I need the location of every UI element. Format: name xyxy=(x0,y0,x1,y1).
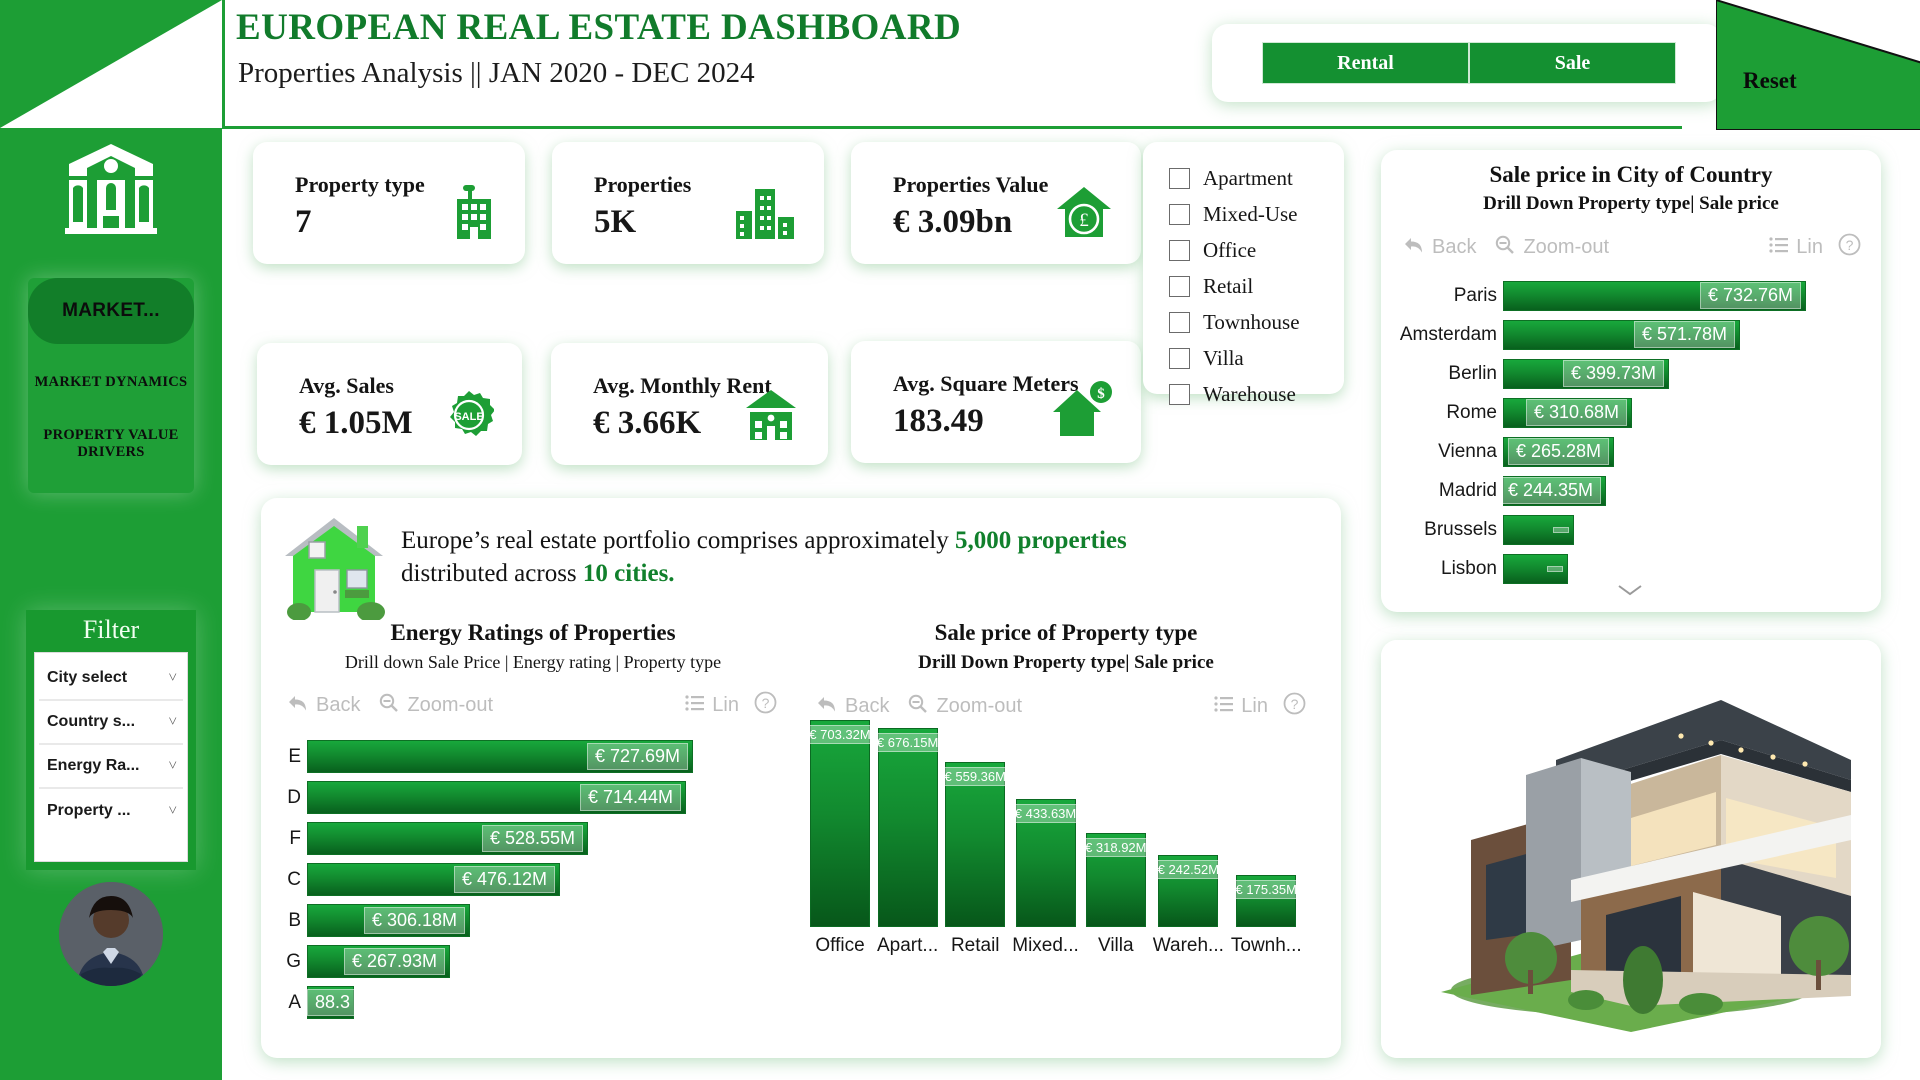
sidebar-item-market-dynamics[interactable]: MARKET DYNAMICS xyxy=(28,356,194,409)
bar-category: Retail xyxy=(951,935,1000,957)
chart-subtitle: Drill down Sale Price | Energy rating | … xyxy=(273,652,793,673)
avatar[interactable] xyxy=(59,882,163,986)
bar-value-label: € 399.73M xyxy=(1563,360,1664,387)
bar-row[interactable]: Brussels xyxy=(1381,510,1881,549)
sidebar: MARKET... MARKET DYNAMICS PROPERTY VALUE… xyxy=(0,0,222,1080)
sidebar-item-label: MARKET DYNAMICS xyxy=(35,374,188,390)
bar-column[interactable]: € 175.35M Townh... xyxy=(1231,875,1302,957)
chevron-down-icon: ˅ xyxy=(167,670,177,687)
dashboard-root: MARKET... MARKET DYNAMICS PROPERTY VALUE… xyxy=(0,0,1920,1080)
checkbox-icon[interactable] xyxy=(1169,204,1190,225)
chart-toolbar-city: Back Zoom-out Lin ? xyxy=(1403,233,1861,262)
kpi-card-avg-square-meters[interactable]: Avg. Square Meters 183.49 $ xyxy=(851,341,1141,463)
bar-row[interactable]: A 88.3 xyxy=(281,982,793,1023)
bar-value-label: € 732.76M xyxy=(1700,282,1801,309)
filter-item-property-type[interactable]: Property ... ˅ xyxy=(39,789,183,833)
analysis-panel: Europe’s real estate portfolio comprises… xyxy=(261,498,1341,1058)
bar-category: Townh... xyxy=(1231,935,1302,957)
property-photo-panel xyxy=(1381,640,1881,1058)
bar: € 175.35M xyxy=(1236,875,1296,927)
bar: € 703.32M xyxy=(810,720,870,927)
bar-row[interactable]: Berlin € 399.73M xyxy=(1381,354,1881,393)
bar-category: Mixed... xyxy=(1012,935,1079,957)
hero-line2-em: 10 cities. xyxy=(583,560,675,587)
page-subtitle: Properties Analysis || JAN 2020 - DEC 20… xyxy=(238,57,755,90)
energy-ratings-chart-block: Energy Ratings of Properties Drill down … xyxy=(273,620,793,1023)
checkbox-row-office[interactable]: Office xyxy=(1169,232,1344,268)
chart-subtitle: Drill Down Property type| Sale price xyxy=(1381,193,1881,215)
bar-value-label xyxy=(1547,566,1563,572)
svg-text:?: ? xyxy=(1846,237,1854,253)
zoom-out-label: Zoom-out xyxy=(1523,236,1609,259)
back-arrow-icon xyxy=(1403,236,1425,260)
kpi-card-avg-monthly-rent[interactable]: Avg. Monthly Rent € 3.66K xyxy=(551,343,828,465)
bar-value-label: € 265.28M xyxy=(1508,438,1609,465)
checkbox-label: Villa xyxy=(1203,346,1244,371)
bar: € 476.12M xyxy=(307,863,560,896)
filter-item-country-select[interactable]: Country s... ˅ xyxy=(39,701,183,745)
kpi-title: Avg. Sales xyxy=(299,373,394,399)
back-button[interactable]: Back xyxy=(287,694,360,718)
back-label: Back xyxy=(1432,236,1476,259)
chart-scroll-down-icon[interactable] xyxy=(1617,583,1643,602)
bar xyxy=(1503,554,1568,584)
bar-value-label: € 306.18M xyxy=(364,907,465,934)
checkbox-label: Townhouse xyxy=(1203,310,1300,335)
back-arrow-icon xyxy=(816,695,838,719)
kpi-value: 7 xyxy=(295,204,312,241)
help-circle-icon[interactable]: ? xyxy=(754,691,777,720)
sidebar-corner-wedge xyxy=(0,0,222,128)
sidebar-item-property-value-drivers[interactable]: PROPERTY VALUE DRIVERS xyxy=(28,409,194,479)
bar: € 528.55M xyxy=(307,822,588,855)
building-key-icon xyxy=(451,183,497,244)
property-type-bar-chart: € 703.32M Office € 676.15M Apart... € 55… xyxy=(806,735,1326,957)
filter-title: Filter xyxy=(26,610,196,652)
property-type-chart-block: Sale price of Property type Drill Down P… xyxy=(806,620,1326,957)
header: EUROPEAN REAL ESTATE DASHBOARD Propertie… xyxy=(222,0,1920,128)
kpi-card-avg-sales[interactable]: Avg. Sales € 1.05M SALE xyxy=(257,343,522,465)
filter-list: City select ˅ Country s... ˅ Energy Ra..… xyxy=(34,652,188,862)
sidebar-item-label: MARKET... xyxy=(62,300,160,321)
svg-text:SALE: SALE xyxy=(454,411,483,423)
kpi-value: 183.49 xyxy=(893,403,984,440)
hero-statement: Europe’s real estate portfolio comprises… xyxy=(401,524,1301,590)
filter-item-city-select[interactable]: City select ˅ xyxy=(39,657,183,701)
chevron-down-icon: ˅ xyxy=(167,714,177,731)
bar-value-label: € 727.69M xyxy=(587,743,688,770)
bar-value-label: € 476.12M xyxy=(454,866,555,893)
bar-category: Vienna xyxy=(1381,441,1503,463)
bar-category: B xyxy=(281,910,307,932)
bar-value-label: € 310.68M xyxy=(1526,399,1627,426)
bar-row[interactable]: F € 528.55M xyxy=(281,818,793,859)
bar: 88.3 xyxy=(307,986,354,1019)
bar-column[interactable]: € 433.63M Mixed... xyxy=(1012,799,1079,957)
rental-button[interactable]: Rental xyxy=(1262,42,1469,84)
bar-category: E xyxy=(281,746,307,768)
checkbox-icon[interactable] xyxy=(1169,240,1190,261)
kpi-card-properties-value[interactable]: Properties Value € 3.09bn £ xyxy=(851,142,1141,264)
bar-column[interactable]: € 559.36M Retail xyxy=(945,762,1005,957)
bar-row[interactable]: Paris € 732.76M xyxy=(1381,276,1881,315)
checkbox-label: Retail xyxy=(1203,274,1253,299)
bar-row[interactable]: C € 476.12M xyxy=(281,859,793,900)
bar-category: Rome xyxy=(1381,402,1503,424)
checkbox-icon[interactable] xyxy=(1169,384,1190,405)
bar-row[interactable]: Madrid € 244.35M xyxy=(1381,471,1881,510)
list-lines-icon xyxy=(685,694,705,718)
bar-category: G xyxy=(281,951,307,973)
checkbox-row-apartment[interactable]: Apartment xyxy=(1169,160,1344,196)
zoom-out-button[interactable]: Zoom-out xyxy=(907,694,1022,720)
reset-button-label[interactable]: Reset xyxy=(1743,68,1797,94)
modern-house-photo xyxy=(1381,640,1881,1058)
city-bar-chart: Paris € 732.76M Amsterdam € 571.78M Berl… xyxy=(1381,276,1881,588)
bar-category: Brussels xyxy=(1381,519,1503,541)
bar-value-label: € 714.44M xyxy=(580,784,681,811)
house-rent-icon xyxy=(742,388,800,445)
bar-category: Villa xyxy=(1098,935,1134,957)
bar-value-label: € 559.36M xyxy=(940,767,1011,786)
zoom-out-label: Zoom-out xyxy=(936,695,1022,718)
header-left-rule xyxy=(222,0,225,128)
bar: € 318.92M xyxy=(1086,833,1146,927)
zoom-out-icon xyxy=(907,694,929,720)
kpi-value: 5K xyxy=(594,204,636,241)
bar-row[interactable]: G € 267.93M xyxy=(281,941,793,982)
help-circle-icon[interactable]: ? xyxy=(1283,692,1306,721)
bar-row[interactable]: Vienna € 265.28M xyxy=(1381,432,1881,471)
svg-text:?: ? xyxy=(762,695,770,711)
sale-button[interactable]: Sale xyxy=(1469,42,1676,84)
bar-column[interactable]: € 676.15M Apart... xyxy=(877,728,938,957)
checkbox-icon[interactable] xyxy=(1169,348,1190,369)
bar: € 433.63M xyxy=(1016,799,1076,927)
zoom-out-label: Zoom-out xyxy=(407,694,493,717)
bar-category: A xyxy=(281,992,307,1014)
bar-category: D xyxy=(281,787,307,809)
bar-value-label: € 571.78M xyxy=(1634,321,1735,348)
back-label: Back xyxy=(845,695,889,718)
back-arrow-icon xyxy=(287,694,309,718)
lin-button[interactable]: Lin xyxy=(1214,695,1268,719)
kpi-value: € 3.66K xyxy=(593,405,701,442)
energy-bar-chart: E € 727.69M D € 714.44M F € 528.55M C € … xyxy=(281,736,793,1023)
bar-category: Apart... xyxy=(877,935,938,957)
bar-value-label: € 267.93M xyxy=(344,948,445,975)
page-title: EUROPEAN REAL ESTATE DASHBOARD xyxy=(236,6,961,49)
chart-title: Energy Ratings of Properties xyxy=(273,620,793,646)
bar-value-label: € 242.52M xyxy=(1153,860,1224,879)
filter-panel: Filter City select ˅ Country s... ˅ Ener… xyxy=(26,610,196,870)
bar: € 732.76M xyxy=(1503,281,1806,311)
sidebar-nav: MARKET... MARKET DYNAMICS PROPERTY VALUE… xyxy=(28,278,194,493)
bar-column[interactable]: € 242.52M Wareh... xyxy=(1153,855,1224,957)
bar-value-label: € 676.15M xyxy=(872,733,943,752)
bar-category: Lisbon xyxy=(1381,558,1503,580)
bar-category: Amsterdam xyxy=(1381,324,1503,346)
hero-line1-em: 5,000 properties xyxy=(955,527,1127,554)
reset-wedge[interactable] xyxy=(1716,0,1920,130)
lin-label: Lin xyxy=(1241,695,1268,718)
bar: € 244.35M xyxy=(1503,476,1606,506)
chevron-down-icon: ˅ xyxy=(167,803,177,820)
house-pound-icon: £ xyxy=(1055,185,1113,244)
checkbox-icon[interactable] xyxy=(1169,168,1190,189)
bar-category: Madrid xyxy=(1381,480,1503,502)
bar-row[interactable]: Amsterdam € 571.78M xyxy=(1381,315,1881,354)
bar-category: Wareh... xyxy=(1153,935,1224,957)
bar-row[interactable]: E € 727.69M xyxy=(281,736,793,777)
zoom-out-icon xyxy=(378,693,400,719)
bar-category: F xyxy=(281,828,307,850)
checkbox-icon[interactable] xyxy=(1169,276,1190,297)
bar-value-label: 88.3 xyxy=(307,989,354,1016)
chart-toolbar-property-type: Back Zoom-out Lin ? xyxy=(816,692,1306,721)
chevron-down-icon: ˅ xyxy=(167,758,177,775)
lin-button[interactable]: Lin xyxy=(685,694,739,718)
bar-column[interactable]: € 703.32M Office xyxy=(810,720,870,957)
checkbox-label: Mixed-Use xyxy=(1203,202,1297,227)
lin-button[interactable]: Lin xyxy=(1769,236,1823,260)
checkbox-label: Warehouse xyxy=(1203,382,1296,407)
bar-value-label: € 703.32M xyxy=(804,725,875,744)
kpi-title: Properties Value xyxy=(893,172,1048,198)
city-sale-price-panel: Sale price in City of Country Drill Down… xyxy=(1381,150,1881,612)
checkbox-label: Office xyxy=(1203,238,1256,263)
bar-value-label xyxy=(1553,527,1569,533)
bar-category: Berlin xyxy=(1381,363,1503,385)
svg-text:?: ? xyxy=(1291,696,1299,712)
bar-category: C xyxy=(281,869,307,891)
sidebar-item-market[interactable]: MARKET... xyxy=(28,278,194,344)
help-circle-icon[interactable]: ? xyxy=(1838,233,1861,262)
chart-title: Sale price of Property type xyxy=(806,620,1326,646)
zoom-out-button[interactable]: Zoom-out xyxy=(378,693,493,719)
header-bottom-rule xyxy=(222,126,1682,129)
bar xyxy=(1503,515,1574,545)
bar-value-label: € 528.55M xyxy=(482,825,583,852)
bar-value-label: € 175.35M xyxy=(1231,880,1302,899)
checkbox-row-mixed-use[interactable]: Mixed-Use xyxy=(1169,196,1344,232)
lin-label: Lin xyxy=(1796,236,1823,259)
bar-value-label: € 244.35M xyxy=(1500,477,1601,504)
zoom-out-button[interactable]: Zoom-out xyxy=(1494,235,1609,261)
bar-column[interactable]: € 318.92M Villa xyxy=(1086,833,1146,957)
checkbox-row-villa[interactable]: Villa xyxy=(1169,340,1344,376)
kpi-title: Properties xyxy=(594,172,691,198)
chart-title: Sale price in City of Country xyxy=(1381,162,1881,188)
bar: € 714.44M xyxy=(307,781,686,814)
svg-text:£: £ xyxy=(1079,210,1089,231)
bar: € 267.93M xyxy=(307,945,450,978)
bar: € 265.28M xyxy=(1503,437,1614,467)
list-lines-icon xyxy=(1769,236,1789,260)
filter-item-label: City select xyxy=(47,669,127,687)
bar: € 399.73M xyxy=(1503,359,1669,389)
kpi-value: € 1.05M xyxy=(299,405,413,442)
bar: € 310.68M xyxy=(1503,398,1632,428)
green-house-icon xyxy=(279,512,389,625)
checkbox-icon[interactable] xyxy=(1169,312,1190,333)
back-button[interactable]: Back xyxy=(816,695,889,719)
checkbox-label: Apartment xyxy=(1203,166,1293,191)
hero-line2-a: distributed across xyxy=(401,560,583,587)
bar: € 727.69M xyxy=(307,740,693,773)
chart-toolbar-energy: Back Zoom-out Lin ? xyxy=(287,691,777,720)
bar: € 571.78M xyxy=(1503,320,1740,350)
hero-line1-a: Europe’s real estate portfolio comprises… xyxy=(401,527,955,554)
filter-item-label: Country s... xyxy=(47,713,135,731)
kpi-value: € 3.09bn xyxy=(893,204,1012,241)
mode-toggle-group: Rental Sale xyxy=(1212,24,1722,102)
city-buildings-icon xyxy=(734,187,796,244)
kpi-card-property-type[interactable]: Property type 7 xyxy=(253,142,525,264)
chart-subtitle: Drill Down Property type| Sale price xyxy=(806,652,1326,674)
lin-label: Lin xyxy=(712,694,739,717)
filter-item-label: Property ... xyxy=(47,802,131,820)
checkbox-row-warehouse[interactable]: Warehouse xyxy=(1169,376,1344,412)
svg-text:$: $ xyxy=(1097,386,1105,402)
sidebar-item-label: PROPERTY VALUE DRIVERS xyxy=(43,427,178,460)
property-type-checkbox-list: Apartment Mixed-Use Office Retail Townho… xyxy=(1143,142,1344,394)
checkbox-row-townhouse[interactable]: Townhouse xyxy=(1169,304,1344,340)
bar-row[interactable]: D € 714.44M xyxy=(281,777,793,818)
bar-category: Paris xyxy=(1381,285,1503,307)
bar-row[interactable]: Rome € 310.68M xyxy=(1381,393,1881,432)
sale-badge-icon: SALE xyxy=(444,390,494,445)
bar-row[interactable]: B € 306.18M xyxy=(281,900,793,941)
house-dollar-icon: $ xyxy=(1051,380,1113,443)
back-label: Back xyxy=(316,694,360,717)
zoom-out-icon xyxy=(1494,235,1516,261)
filter-item-energy-rating[interactable]: Energy Ra... ˅ xyxy=(39,745,183,789)
bar: € 306.18M xyxy=(307,904,470,937)
bar-value-label: € 318.92M xyxy=(1080,838,1151,857)
bank-building-icon xyxy=(63,142,159,239)
bar-category: Office xyxy=(815,935,864,957)
kpi-card-properties[interactable]: Properties 5K xyxy=(552,142,824,264)
bar: € 559.36M xyxy=(945,762,1005,927)
bar: € 676.15M xyxy=(878,728,938,927)
checkbox-row-retail[interactable]: Retail xyxy=(1169,268,1344,304)
kpi-title: Property type xyxy=(295,172,425,198)
back-button[interactable]: Back xyxy=(1403,236,1476,260)
list-lines-icon xyxy=(1214,695,1234,719)
bar: € 242.52M xyxy=(1158,855,1218,927)
filter-item-label: Energy Ra... xyxy=(47,757,139,775)
bar-value-label: € 433.63M xyxy=(1010,804,1081,823)
